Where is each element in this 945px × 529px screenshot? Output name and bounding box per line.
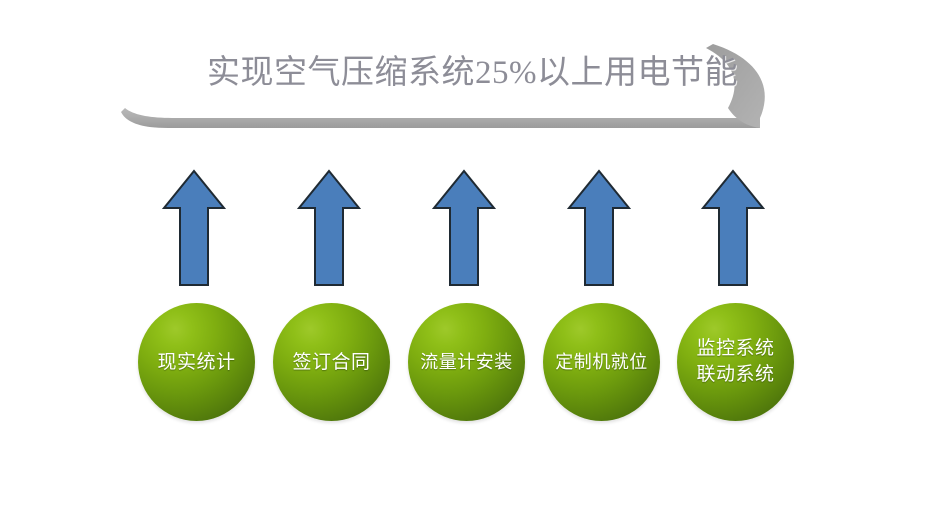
arrow-up-icon-2 — [297, 168, 361, 288]
step-circle-5[interactable]: 监控系统 联动系统 — [677, 303, 794, 421]
step-circle-2[interactable]: 签订合同 — [273, 303, 390, 421]
arrow-up-icon-4 — [567, 168, 631, 288]
step-label-3: 流量计安装 — [394, 303, 539, 421]
step-label-5: 监控系统 联动系统 — [663, 303, 808, 421]
arrow-up-icon-5 — [701, 168, 765, 288]
step-label-2: 签订合同 — [259, 303, 404, 421]
slide-canvas: 实现空气压缩系统25%以上用电节能 现实统计 签订合同 流量 — [0, 0, 945, 529]
arrow-up-icon-1 — [162, 168, 226, 288]
step-circle-1[interactable]: 现实统计 — [138, 303, 255, 421]
title-banner: 实现空气压缩系统25%以上用电节能 — [0, 36, 945, 136]
step-label-1: 现实统计 — [124, 303, 269, 421]
step-circle-3[interactable]: 流量计安装 — [408, 303, 525, 421]
step-label-4: 定制机就位 — [529, 303, 674, 421]
step-circle-4[interactable]: 定制机就位 — [543, 303, 660, 421]
page-title: 实现空气压缩系统25%以上用电节能 — [0, 52, 945, 94]
arrow-up-icon-3 — [432, 168, 496, 288]
